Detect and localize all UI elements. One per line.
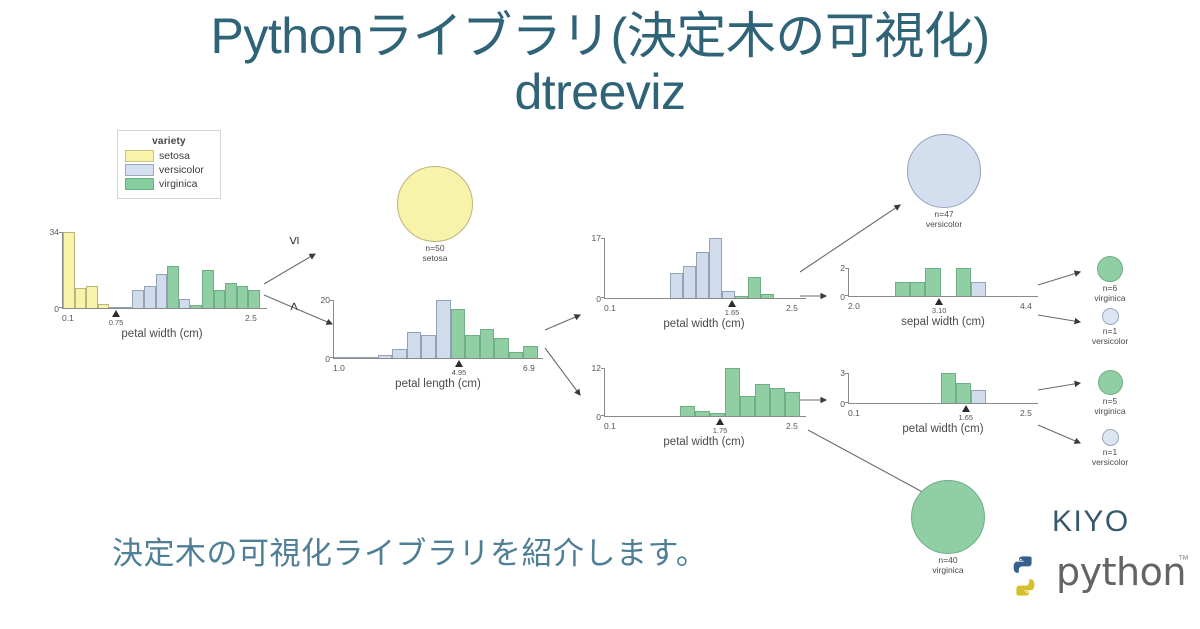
petal-width-upper-y-min-label: 0: [596, 294, 601, 304]
legend-item-versicolor: versicolor: [125, 164, 213, 176]
root-y-min-label: 0: [54, 304, 59, 314]
petal-width-lower-y-min-label: 0: [596, 412, 601, 422]
tree-node-petal-width-upper: 17 0 0.1 2.5 1.65 petal width (cm): [604, 238, 804, 343]
tree-node-petal-length: 20 0 1.0 6.9 4.95 petal length (cm): [333, 300, 543, 410]
petal-width-upper-split-marker: [728, 300, 736, 307]
petal-length-x-axis-label: petal length (cm): [395, 378, 481, 390]
root-x-min-label: 0.1: [62, 313, 74, 323]
leaf-variety-setosa: setosa: [390, 254, 480, 264]
author-credit: KIYO: [1052, 505, 1130, 539]
sepal-width-x-max-label: 4.4: [1020, 301, 1032, 311]
sepal-width-x-axis-label: sepal width (cm): [901, 316, 985, 328]
title-line-2: dtreeviz: [0, 64, 1200, 120]
edge-label-le: ≤: [286, 236, 303, 244]
sepal-width-y-max-label: 2: [840, 263, 845, 273]
petal-width-lower-x-max-label: 2.5: [786, 421, 798, 431]
petal-width-upper-x-axis-label: petal width (cm): [663, 318, 744, 330]
tree-node-petal-width-bottom: 3 0 0.1 2.5 1.65 petal width (cm): [848, 373, 1038, 468]
histogram-bar: [941, 373, 956, 403]
histogram-bar: [132, 290, 144, 308]
legend-item-setosa: setosa: [125, 150, 213, 162]
legend-title: variety: [125, 136, 213, 147]
legend-swatch-versicolor: [125, 164, 154, 176]
histogram-bar: [740, 396, 755, 416]
leaf-circle-versicolor-47: [907, 134, 981, 208]
histogram-bar: [971, 390, 986, 403]
leaf-circle-versicolor-1a: [1102, 308, 1119, 325]
histogram-bar: [683, 266, 696, 298]
histogram-bar: [144, 286, 156, 308]
leaf-circle-virginica-40: [911, 480, 985, 554]
histogram-bar: [248, 290, 260, 308]
petal-width-bottom-x-min-label: 0.1: [848, 408, 860, 418]
histogram-bar: [755, 384, 770, 416]
variety-legend: variety setosa versicolor virginica: [117, 130, 221, 199]
petal-width-bottom-x-max-label: 2.5: [1020, 408, 1032, 418]
leaf-variety-versicolor-47: versicolor: [899, 220, 989, 230]
histogram-bar: [696, 252, 709, 298]
leaf-circle-virginica-6: [1097, 256, 1123, 282]
histogram-bar: [956, 383, 971, 403]
histogram-bar: [709, 238, 722, 298]
leaf-variety-versicolor-1b: versicolor: [1080, 458, 1140, 468]
sepal-width-split-value: 3.10: [932, 306, 947, 315]
root-bars: [63, 232, 260, 308]
slide-caption: 決定木の可視化ライブラリを紹介します。: [112, 528, 707, 573]
sepal-width-bars: [849, 268, 1032, 296]
leaf-node-setosa: n=50 setosa: [390, 166, 480, 264]
tree-node-petal-width-lower: 12 0 0.1 2.5 1.75 petal width (cm): [604, 368, 804, 473]
edge-label-gt: >: [286, 302, 303, 311]
root-split-value: 0.75: [109, 318, 124, 327]
histogram-bar: [421, 335, 436, 358]
petal-length-y-max-label: 20: [321, 295, 330, 305]
histogram-bar: [392, 349, 407, 358]
root-split-marker: [112, 310, 120, 317]
tree-node-sepal-width: 2 0 2.0 4.4 3.10 sepal width (cm): [848, 268, 1038, 363]
histogram-bar: [523, 346, 538, 358]
histogram-bar: [494, 338, 509, 358]
python-logo-icon: [1002, 554, 1046, 598]
root-x-axis-label: petal width (cm): [121, 328, 202, 340]
leaf-node-versicolor-47: n=47 versicolor: [899, 134, 989, 230]
sepal-width-y-min-label: 0: [840, 292, 845, 302]
leaf-variety-virginica-5: virginica: [1080, 407, 1140, 417]
petal-length-x-max-label: 6.9: [523, 363, 535, 373]
legend-swatch-virginica: [125, 178, 154, 190]
leaf-variety-virginica-6: virginica: [1080, 294, 1140, 304]
histogram-bar: [748, 277, 761, 298]
leaf-circle-versicolor-1b: [1102, 429, 1119, 446]
leaf-circle-virginica-5: [1098, 370, 1123, 395]
petal-width-upper-x-max-label: 2.5: [786, 303, 798, 313]
histogram-bar: [971, 282, 986, 296]
leaf-variety-versicolor-1a: versicolor: [1080, 337, 1140, 347]
leaf-variety-virginica-40: virginica: [903, 566, 993, 576]
petal-width-lower-x-axis-label: petal width (cm): [663, 436, 744, 448]
petal-width-bottom-bars: [849, 373, 1032, 403]
histogram-bar: [465, 335, 480, 358]
leaf-node-versicolor-1a: n=1 versicolor: [1080, 308, 1140, 347]
legend-label-virginica: virginica: [159, 178, 198, 190]
title-line-1: Pythonライブラリ(決定木の可視化): [211, 8, 990, 64]
petal-width-upper-x-min-label: 0.1: [604, 303, 616, 313]
histogram-bar: [956, 268, 971, 296]
petal-width-upper-y-max-label: 17: [592, 233, 601, 243]
page-title: Pythonライブラリ(決定木の可視化) dtreeviz: [0, 8, 1200, 120]
tree-node-root: 34 0 0.1 2.5 0.75 petal width (cm): [62, 232, 262, 342]
legend-item-virginica: virginica: [125, 178, 213, 190]
histogram-bar: [63, 232, 75, 308]
histogram-bar: [725, 368, 740, 416]
python-logo-trademark: ™: [1178, 554, 1189, 566]
histogram-bar: [407, 332, 422, 358]
petal-width-bottom-split-marker: [962, 405, 970, 412]
histogram-bar: [75, 288, 87, 308]
leaf-node-virginica-40: n=40 virginica: [903, 480, 993, 576]
petal-width-bottom-x-axis-label: petal width (cm): [902, 423, 983, 435]
histogram-bar: [214, 290, 226, 308]
petal-width-lower-x-min-label: 0.1: [604, 421, 616, 431]
petal-width-bottom-split-value: 1.65: [958, 413, 973, 422]
petal-width-lower-split-marker: [716, 418, 724, 425]
slide-canvas: Pythonライブラリ(決定木の可視化) dtreeviz variety se…: [0, 0, 1200, 629]
petal-width-lower-bars: [605, 368, 800, 416]
sepal-width-x-min-label: 2.0: [848, 301, 860, 311]
leaf-circle-setosa: [397, 166, 473, 242]
python-logo: python ™: [1002, 552, 1192, 604]
leaf-node-versicolor-1b: n=1 versicolor: [1080, 429, 1140, 468]
histogram-bar: [436, 300, 451, 358]
petal-width-lower-y-max-label: 12: [592, 363, 601, 373]
legend-label-versicolor: versicolor: [159, 164, 204, 176]
histogram-bar: [895, 282, 910, 296]
histogram-bar: [167, 266, 179, 308]
legend-swatch-setosa: [125, 150, 154, 162]
histogram-bar: [680, 406, 695, 416]
histogram-bar: [910, 282, 925, 296]
histogram-bar: [225, 283, 237, 308]
sepal-width-split-marker: [935, 298, 943, 305]
petal-length-y-min-label: 0: [325, 354, 330, 364]
petal-length-split-value: 4.95: [452, 368, 467, 377]
leaf-node-virginica-5: n=5 virginica: [1080, 370, 1140, 417]
histogram-bar: [925, 268, 940, 296]
histogram-bar: [785, 392, 800, 416]
python-logo-wordmark: python: [1056, 550, 1186, 594]
histogram-bar: [179, 299, 191, 308]
histogram-bar: [156, 274, 168, 308]
histogram-bar: [202, 270, 214, 308]
histogram-bar: [451, 309, 466, 358]
histogram-bar: [670, 273, 683, 298]
petal-width-bottom-y-min-label: 0: [840, 399, 845, 409]
histogram-bar: [722, 291, 735, 298]
root-x-max-label: 2.5: [245, 313, 257, 323]
petal-width-lower-split-value: 1.75: [713, 426, 728, 435]
petal-width-bottom-y-max-label: 3: [840, 368, 845, 378]
histogram-bar: [86, 286, 98, 308]
leaf-node-virginica-6: n=6 virginica: [1080, 256, 1140, 304]
root-y-max-label: 34: [50, 227, 59, 237]
histogram-bar: [237, 286, 249, 308]
petal-width-upper-bars: [605, 238, 800, 298]
petal-width-upper-split-value: 1.65: [725, 308, 740, 317]
histogram-bar: [770, 388, 785, 416]
histogram-bar: [480, 329, 495, 358]
petal-length-bars: [334, 300, 538, 358]
petal-length-x-min-label: 1.0: [333, 363, 345, 373]
legend-label-setosa: setosa: [159, 150, 190, 162]
petal-length-split-marker: [455, 360, 463, 367]
